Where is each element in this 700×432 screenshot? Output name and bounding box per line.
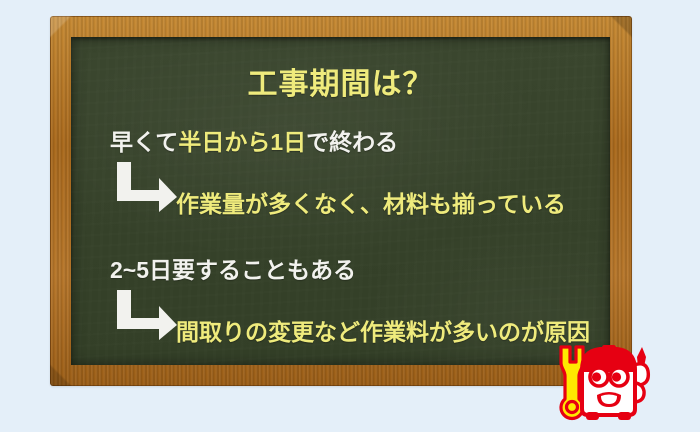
board-line-1-segment-2: 半日から1日 — [178, 129, 306, 155]
blackboard-wooden-frame: 工事期間は？ 早くて半日から1日で終わる 作業量が多くなく、材料も揃っている 2… — [50, 16, 632, 386]
board-line-4-segment-1: 間取りの変更など作業料が多いのが原因 — [176, 319, 590, 345]
board-line-3: 2~5日要することもある — [110, 259, 356, 282]
blackboard-surface: 工事期間は？ 早くて半日から1日で終わる 作業量が多くなく、材料も揃っている 2… — [71, 37, 610, 365]
board-line-1-segment-3: で終わる — [306, 129, 398, 155]
page-title: 工事期間は？ — [71, 59, 610, 103]
elbow-arrow-right-icon — [115, 162, 179, 212]
board-line-4: 間取りの変更など作業料が多いのが原因 — [176, 321, 590, 344]
board-line-2-segment-1: 作業量が多くなく、材料も揃っている — [176, 191, 566, 217]
car-mechanic-mascot-icon — [552, 337, 660, 429]
board-line-2: 作業量が多くなく、材料も揃っている — [176, 193, 566, 216]
screenshot-canvas: 工事期間は？ 早くて半日から1日で終わる 作業量が多くなく、材料も揃っている 2… — [0, 0, 700, 432]
elbow-arrow-right-icon — [115, 290, 179, 340]
board-line-1-segment-1: 早くて — [110, 129, 178, 155]
board-line-3-segment-1: 2~5日要することもある — [110, 257, 356, 283]
board-line-1: 早くて半日から1日で終わる — [110, 131, 398, 154]
